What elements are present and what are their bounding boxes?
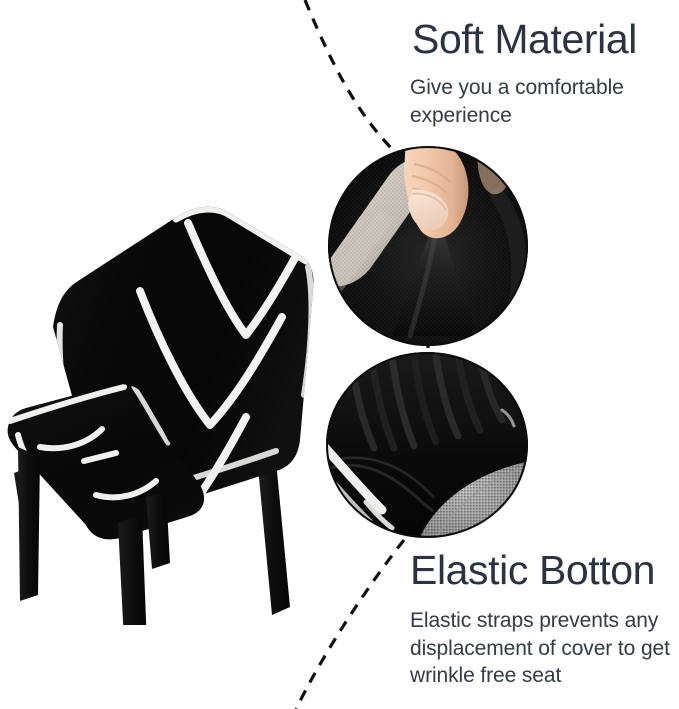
soft-material-description: Give you a comfortable experience <box>410 74 665 129</box>
fabric-pinch-photo <box>328 146 528 346</box>
chair-product-image <box>0 95 340 625</box>
soft-material-heading: Soft Material <box>412 18 637 61</box>
chair-illustration <box>0 95 340 625</box>
fabric-pinch-illustration <box>328 146 528 346</box>
product-infographic: Soft Material Give you a comfortable exp… <box>0 0 679 709</box>
elastic-bottom-heading: Elastic Botton <box>410 549 655 592</box>
elastic-hem-illustration <box>326 352 528 538</box>
elastic-hem-photo <box>326 352 528 538</box>
elastic-bottom-description: Elastic straps prevents any displacement… <box>410 607 672 690</box>
